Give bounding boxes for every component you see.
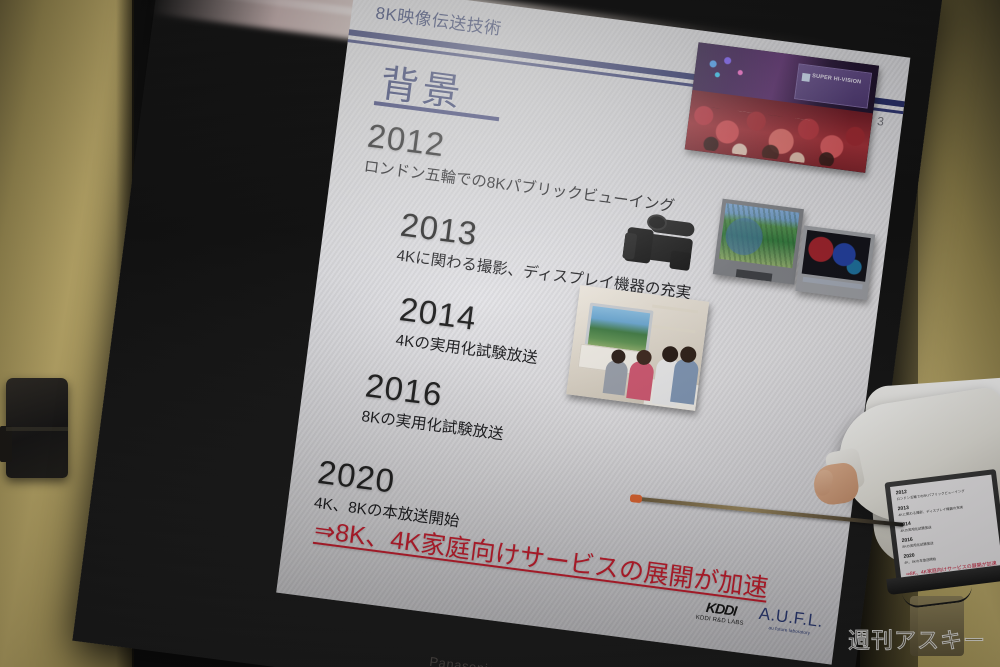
tv-stand bbox=[736, 269, 773, 282]
viewer-person bbox=[603, 359, 629, 396]
conclusion-text: ⇒8K、4K家庭向けサービスの展開が加速 bbox=[313, 516, 770, 603]
timeline-item: 2012 ロンドン五輪での8Kパブリックビューイング bbox=[363, 119, 681, 217]
slide-page-number: 3 bbox=[876, 114, 884, 129]
photo-public-viewing: SUPER HI-VISION bbox=[685, 42, 879, 173]
slide-screen: 8K映像伝送技術 3 背景 2012 ロンドン五輪での8Kパブリックビューイング… bbox=[276, 0, 910, 665]
stage-lights bbox=[699, 49, 759, 90]
viewer-person bbox=[626, 360, 655, 401]
photo-scene: Panasonic 8K映像伝送技術 3 背景 2012 ロンドン五輪での8Kパ… bbox=[0, 0, 1000, 667]
timeline-item: 2016 8Kの実用化試験放送 bbox=[360, 368, 509, 444]
photo-tv-display bbox=[713, 199, 804, 285]
super-hi-vision-screen: SUPER HI-VISION bbox=[794, 63, 872, 108]
photo-watermark: 週刊アスキー bbox=[848, 623, 986, 655]
monitor-screen-image bbox=[802, 230, 871, 282]
pointer-tip bbox=[630, 494, 643, 503]
person-head bbox=[611, 349, 627, 365]
slide-conclusion: ⇒8K、4K家庭向けサービスの展開が加速 bbox=[312, 513, 783, 609]
presenter-thumb bbox=[813, 468, 835, 497]
slide-content: 8K映像伝送技術 3 背景 2012 ロンドン五輪での8Kパブリックビューイング… bbox=[276, 0, 910, 665]
photo-home-viewing bbox=[566, 285, 709, 411]
presenter-laptop: 2012 ロンドン五輪での8Kパブリックビューイング 2013 4Kに関わる撮影… bbox=[875, 469, 1000, 613]
photo-screen-caption: SUPER HI-VISION bbox=[812, 73, 862, 86]
wall-speaker-seam bbox=[6, 427, 68, 431]
kddi-logo: KDDI KDDI R&D LABS bbox=[695, 598, 746, 627]
presentation-display: Panasonic 8K映像伝送技術 3 背景 2012 ロンドン五輪での8Kパ… bbox=[72, 0, 943, 667]
camcorder-grip bbox=[669, 251, 691, 271]
tv-screen-image bbox=[719, 203, 800, 268]
photo-camcorder bbox=[621, 205, 713, 281]
photo-monitor-display bbox=[795, 225, 875, 300]
aufl-logo: A.U.F.L. au future laboratory bbox=[757, 604, 824, 637]
broadcaster-logo-icon bbox=[801, 73, 810, 82]
timeline-item: 2014 4Kの実用化試験放送 bbox=[394, 292, 543, 368]
